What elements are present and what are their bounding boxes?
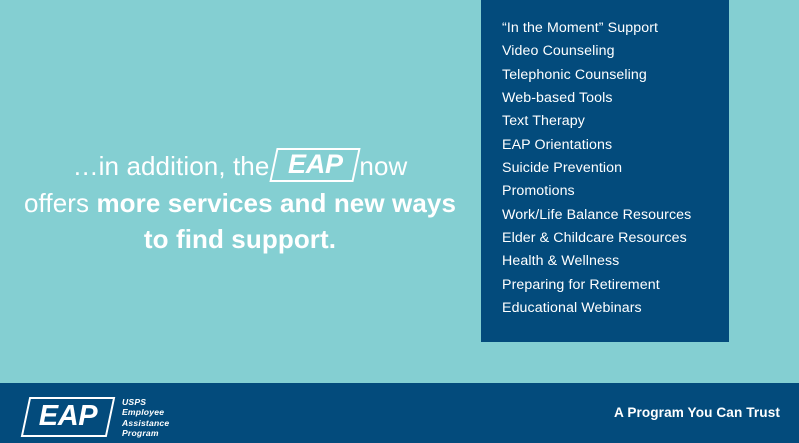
eap-logo-inline: EAP	[273, 148, 357, 182]
headline-part-3: offers	[24, 188, 89, 218]
eap-logo-text: EAP	[25, 397, 111, 437]
headline-part-4: more services and new ways to find suppo…	[96, 188, 456, 255]
footer-logo: EAP USPS Employee Assistance Program	[25, 396, 169, 438]
list-item: Web-based Tools	[502, 87, 723, 110]
footer-logo-subtitle-line: Assistance	[122, 418, 169, 428]
list-item: Promotions	[502, 180, 723, 203]
headline: …in addition, theEAPnow offers more serv…	[18, 148, 462, 258]
eap-logo-text: EAP	[273, 148, 357, 182]
footer-logo-subtitle-line: Employee	[122, 407, 169, 417]
list-item: Educational Webinars	[502, 297, 723, 320]
list-item: Preparing for Retirement	[502, 274, 723, 297]
eap-logo-footer: EAP	[25, 397, 111, 437]
list-item: Work/Life Balance Resources	[502, 204, 723, 227]
services-panel: “In the Moment” Support Video Counseling…	[481, 0, 729, 342]
list-item: Video Counseling	[502, 40, 723, 63]
footer-logo-subtitle-line: USPS	[122, 397, 169, 407]
footer-logo-subtitle: USPS Employee Assistance Program	[122, 396, 169, 438]
list-item: Telephonic Counseling	[502, 64, 723, 87]
list-item: Health & Wellness	[502, 250, 723, 273]
headline-part-2: now	[359, 151, 407, 181]
list-item: Text Therapy	[502, 110, 723, 133]
footer-logo-subtitle-line: Program	[122, 428, 169, 438]
list-item: Elder & Childcare Resources	[502, 227, 723, 250]
list-item: Suicide Prevention	[502, 157, 723, 180]
slide-canvas: “In the Moment” Support Video Counseling…	[0, 0, 799, 443]
headline-part-1: …in addition, the	[73, 151, 270, 181]
footer-tagline: A Program You Can Trust	[614, 405, 780, 420]
list-item: EAP Orientations	[502, 134, 723, 157]
list-item: “In the Moment” Support	[502, 17, 723, 40]
services-list: “In the Moment” Support Video Counseling…	[502, 17, 723, 320]
